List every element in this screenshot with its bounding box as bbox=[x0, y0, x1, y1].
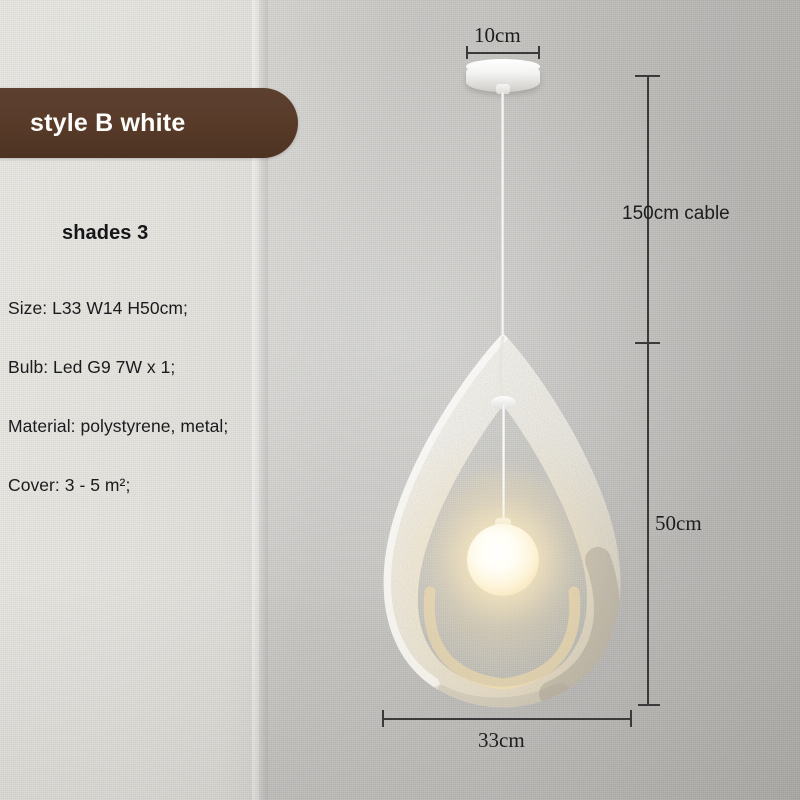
dim-canopy-line bbox=[466, 52, 540, 54]
dim-height-line bbox=[647, 343, 649, 705]
variant-title: shades 3 bbox=[62, 222, 148, 245]
spec-list: Size: L33 W14 H50cm; Bulb: Led G9 7W x 1… bbox=[8, 298, 338, 534]
dim-canopy-tick-right bbox=[538, 46, 540, 59]
dim-cable-label: 150cm cable bbox=[622, 203, 730, 225]
dim-width-tick-left bbox=[382, 710, 384, 727]
style-banner: style B white bbox=[0, 88, 298, 158]
spec-line-cover: Cover: 3 - 5 m²; bbox=[8, 475, 338, 496]
dim-canopy-tick-left bbox=[466, 46, 468, 59]
dim-width-tick-right bbox=[630, 710, 632, 727]
dim-height-tick-bottom bbox=[638, 704, 660, 706]
spec-line-bulb: Bulb: Led G9 7W x 1; bbox=[8, 357, 338, 378]
dim-height-label: 50cm bbox=[655, 511, 702, 536]
spec-line-material: Material: polystyrene, metal; bbox=[8, 416, 338, 437]
dim-width-line bbox=[382, 718, 631, 720]
product-image-canvas: style B white shades 3 Size: L33 W14 H50… bbox=[0, 0, 800, 800]
dim-width-label: 33cm bbox=[478, 728, 525, 753]
dim-canopy-label: 10cm bbox=[474, 23, 521, 48]
dim-cable-tick-top bbox=[635, 75, 660, 77]
spec-line-size: Size: L33 W14 H50cm; bbox=[8, 298, 338, 319]
style-banner-label: style B white bbox=[30, 109, 185, 138]
